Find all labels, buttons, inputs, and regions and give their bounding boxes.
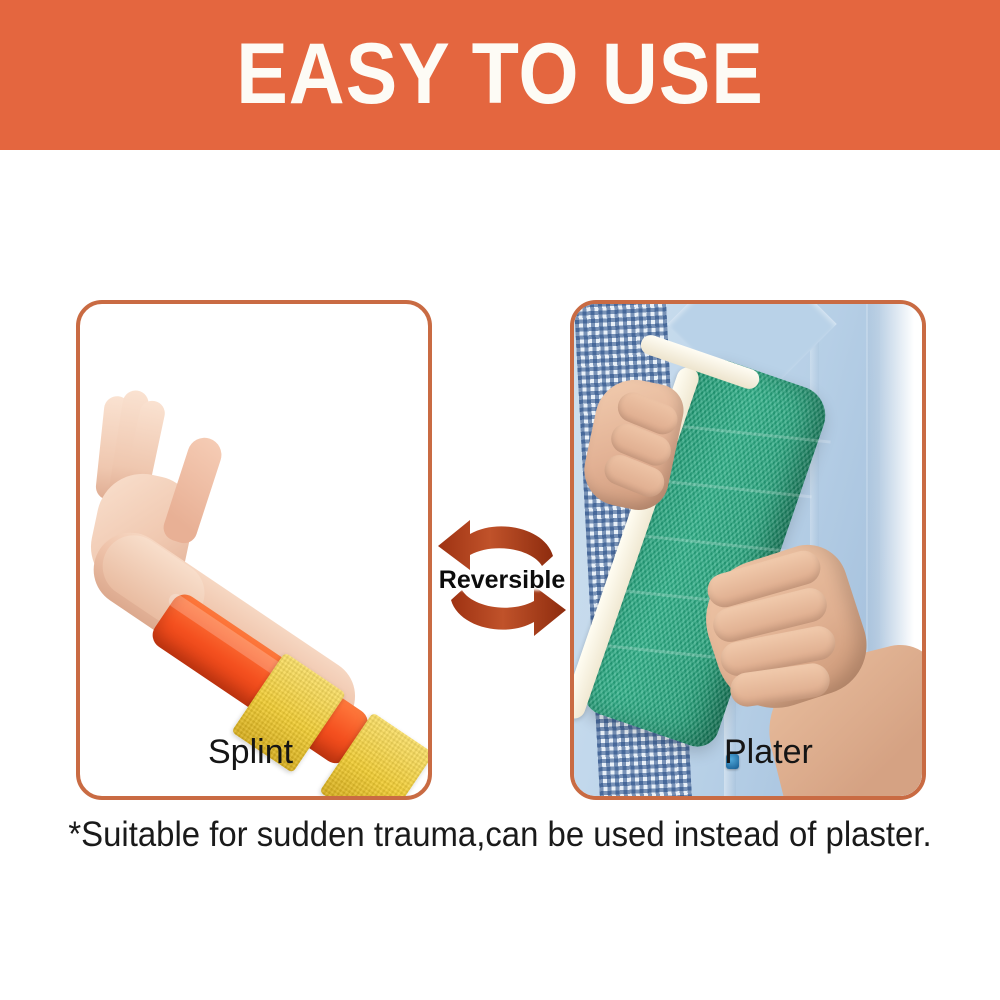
header-banner: EASY TO USE — [0, 0, 1000, 150]
splint-illustration — [80, 304, 428, 796]
plaster-caption: Plater — [724, 733, 813, 772]
page-title: EASY TO USE — [50, 24, 950, 124]
splint-photo-panel: Splint — [76, 300, 432, 800]
plaster-photo-panel: Plater — [570, 300, 926, 800]
splint-caption: Splint — [208, 733, 293, 772]
plaster-illustration — [574, 304, 922, 796]
cast-wrap-line — [652, 479, 811, 499]
cast-wrap-line — [633, 534, 792, 554]
cast-wrap-line — [671, 424, 830, 444]
arrow-curved-left-icon — [438, 520, 553, 570]
reversible-label: Reversible — [432, 566, 572, 595]
footer-note: *Suitable for sudden trauma,can be used … — [30, 812, 970, 858]
product-feature-card: EASY TO USE Splint — [0, 0, 1000, 1000]
